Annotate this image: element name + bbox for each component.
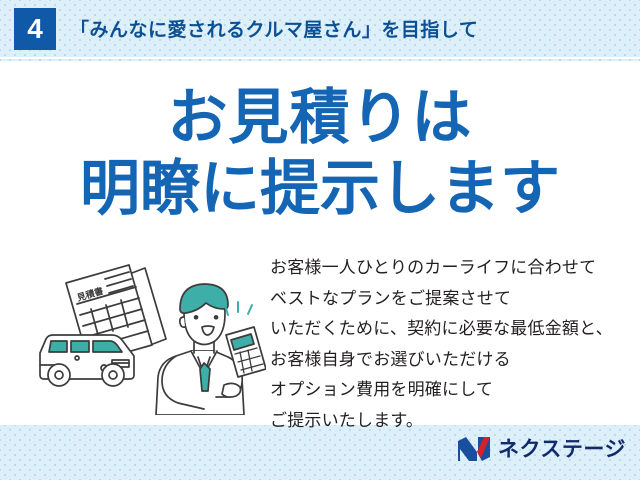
body-line: オプション費用を明確にして — [270, 375, 632, 406]
body-copy: お客様一人ひとりのカーライフに合わせて ベストなプランをご提案させて いただくた… — [270, 253, 632, 437]
body-line: いただくために、契約に必要な最低金額と、 — [270, 314, 632, 345]
body-line: ベストなプランをご提案させて — [270, 284, 632, 315]
brand-logo: ネクステージ — [457, 434, 626, 464]
brand-name: ネクステージ — [498, 439, 626, 460]
sparkle — [225, 302, 252, 315]
header-bar: 4 「みんなに愛されるクルマ屋さん」を目指して — [0, 0, 640, 59]
header-title: 「みんなに愛されるクルマ屋さん」を目指して — [70, 15, 478, 42]
illustration: 見積書 — [28, 257, 266, 415]
footer-bar: ネクステージ — [0, 425, 640, 480]
van-car — [40, 335, 134, 386]
promo-banner: 4 「みんなに愛されるクルマ屋さん」を目指して お見積りは 明瞭に提示します お… — [0, 0, 640, 480]
headline-line-2: 明瞭に提示します — [0, 154, 640, 225]
headline-line-1: お見積りは — [168, 84, 473, 151]
headline: お見積りは 明瞭に提示します — [0, 83, 640, 225]
body-line: お客様自身でお選びいただける — [270, 345, 632, 376]
content-panel: お見積りは 明瞭に提示します お客様一人ひとりのカーライフに合わせて ベストなプ… — [0, 61, 640, 425]
body-line: お客様一人ひとりのカーライフに合わせて — [270, 253, 632, 284]
step-number-badge: 4 — [14, 8, 56, 50]
nextage-n-icon — [457, 436, 491, 462]
